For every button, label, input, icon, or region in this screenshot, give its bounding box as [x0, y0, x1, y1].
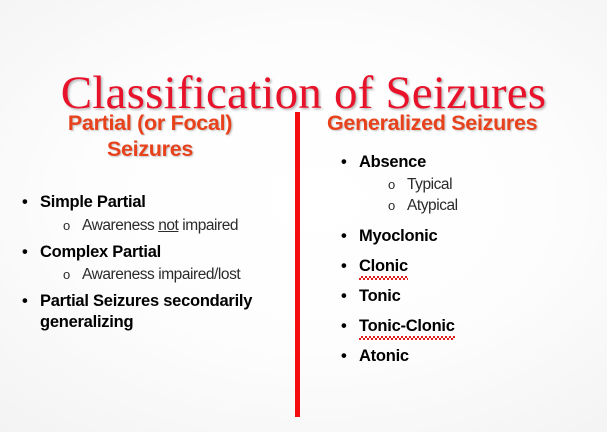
right-column: Generalized Seizures • Absence oTypical …	[313, 110, 605, 376]
sub-list-item-prefix: Awareness	[82, 217, 158, 234]
bullet-dot-icon: •	[22, 192, 28, 213]
bullet-dot-icon: •	[341, 286, 347, 307]
circle-o-icon: o	[388, 196, 395, 216]
right-column-heading: Generalized Seizures	[313, 110, 605, 136]
sub-list-item: oAwareness not impaired	[62, 216, 294, 236]
left-column-heading: Partial (or Focal) Seizures	[6, 110, 294, 162]
left-heading-line-1: Partial (or Focal)	[68, 111, 232, 135]
list-item: • Simple Partial oAwareness not impaired	[20, 192, 294, 235]
list-item-label: Absence	[359, 153, 426, 171]
bullet-dot-icon: •	[22, 291, 28, 312]
list-item-label: Atonic	[359, 347, 409, 365]
list-item: • Partial Seizures secondarily generaliz…	[20, 291, 294, 333]
bullet-dot-icon: •	[341, 152, 347, 173]
left-bullet-list: • Simple Partial oAwareness not impaired…	[6, 192, 294, 333]
column-divider	[295, 112, 300, 417]
list-item-label: Simple Partial	[40, 193, 146, 211]
sub-list-item: oAwareness impaired/lost	[62, 265, 294, 285]
list-item-label: Tonic	[359, 287, 401, 305]
left-heading-line-2: Seizures	[107, 137, 193, 161]
list-item: • Atonic	[339, 346, 605, 367]
bullet-dot-icon: •	[341, 226, 347, 247]
bullet-dot-icon: •	[341, 346, 347, 367]
sub-bullet-list: oAwareness not impaired	[40, 216, 294, 236]
sub-list-item: oAtypical	[387, 196, 605, 216]
circle-o-icon: o	[388, 175, 395, 195]
list-item: • Tonic	[339, 286, 605, 307]
bullet-dot-icon: •	[341, 256, 347, 277]
list-item-label: Tonic-Clonic	[359, 316, 455, 337]
list-item-label: Clonic	[359, 256, 408, 277]
list-item: • Complex Partial oAwareness impaired/lo…	[20, 242, 294, 285]
list-item: • Myoclonic	[339, 226, 605, 247]
bullet-dot-icon: •	[22, 242, 28, 263]
sub-list-item: oTypical	[387, 175, 605, 195]
sub-list-item-prefix: Awareness impaired/lost	[82, 266, 240, 283]
sub-list-item-suffix: impaired	[178, 217, 238, 234]
list-item-label: Myoclonic	[359, 227, 437, 245]
list-item-label: Complex Partial	[40, 243, 161, 261]
slide-canvas: Classification of Seizures Partial (or F…	[0, 0, 607, 432]
list-item: • Absence oTypical oAtypical	[339, 152, 605, 216]
circle-o-icon: o	[63, 216, 70, 236]
circle-o-icon: o	[63, 265, 70, 285]
sub-list-item-emphasis: not	[158, 217, 178, 234]
left-column: Partial (or Focal) Seizures • Simple Par…	[6, 110, 294, 339]
list-item: • Tonic-Clonic	[339, 316, 605, 337]
sub-bullet-list: oAwareness impaired/lost	[40, 265, 294, 285]
sub-bullet-list: oTypical oAtypical	[359, 175, 605, 216]
sub-list-item-label: Typical	[407, 176, 452, 193]
bullet-dot-icon: •	[341, 316, 347, 337]
list-item-label: Partial Seizures secondarily generalizin…	[40, 292, 252, 331]
list-item: • Clonic	[339, 256, 605, 277]
right-bullet-list: • Absence oTypical oAtypical • Myoclonic…	[313, 152, 605, 367]
sub-list-item-label: Atypical	[407, 197, 458, 214]
